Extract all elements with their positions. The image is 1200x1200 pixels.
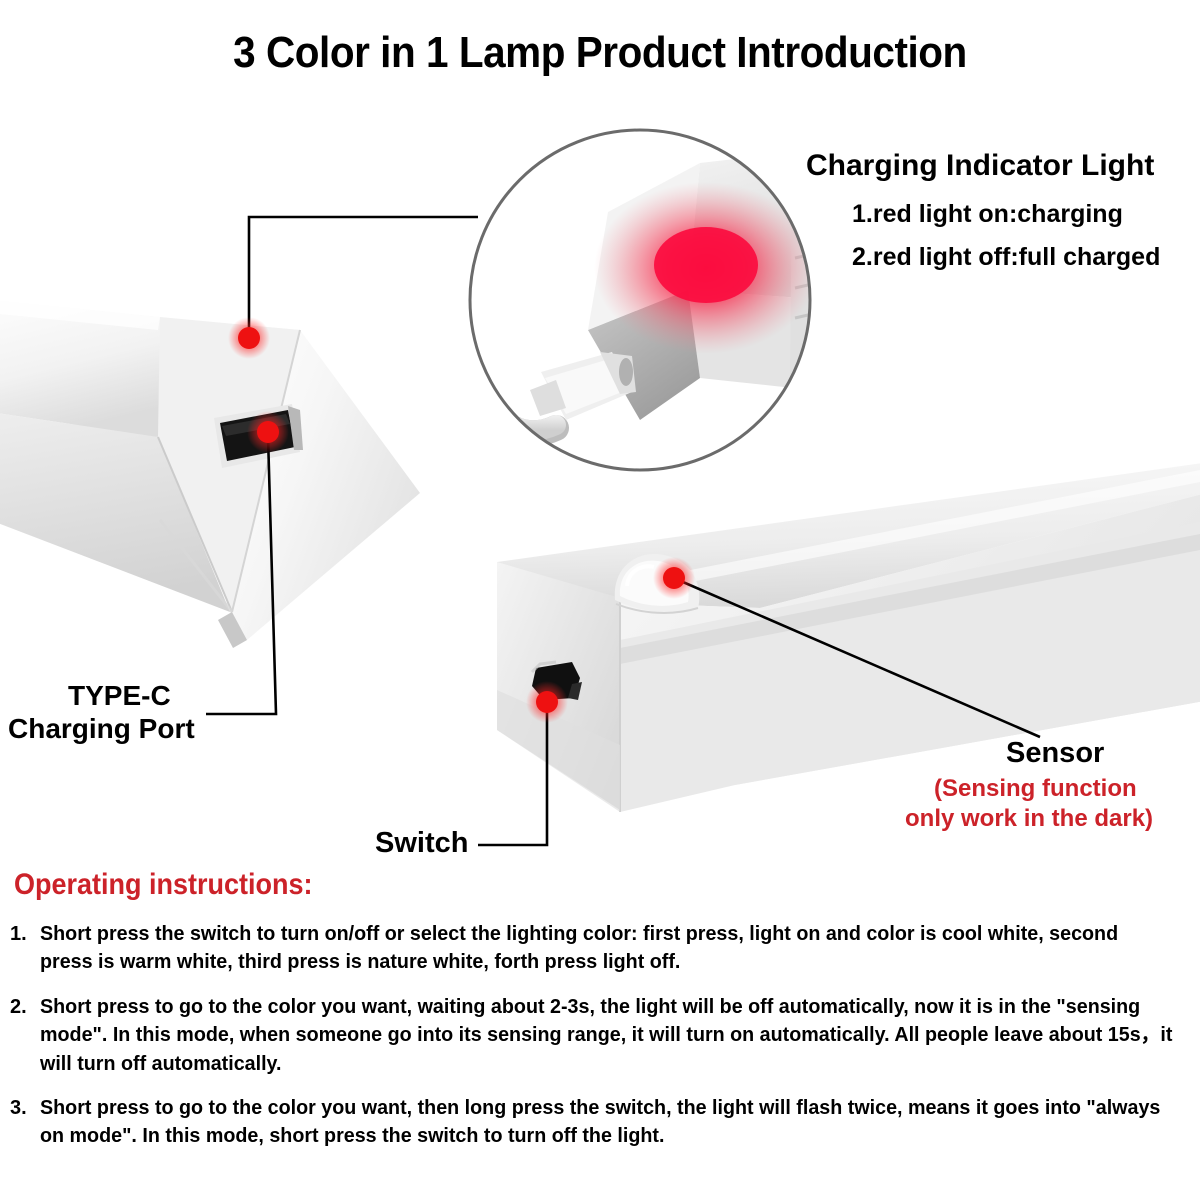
- instruction-item: 3. Short press to go to the color you wa…: [10, 1094, 1190, 1151]
- instruction-number: 2.: [10, 993, 40, 1021]
- sensor-note-line-2: only work in the dark): [905, 805, 1153, 833]
- charging-indicator-title: Charging Indicator Light: [806, 148, 1154, 183]
- callout-dot-charging-indicator: [228, 317, 270, 359]
- callout-dot-switch: [526, 681, 568, 723]
- operating-instructions-list: 1. Short press the switch to turn on/off…: [10, 920, 1190, 1167]
- sensor-label: Sensor: [1006, 736, 1104, 770]
- leader-lines: [206, 217, 1040, 845]
- leader-switch: [478, 704, 547, 845]
- instruction-item: 1. Short press the switch to turn on/off…: [10, 920, 1190, 977]
- type-c-port: [214, 404, 303, 468]
- type-c-label-line-2: Charging Port: [8, 712, 195, 745]
- pir-sensor-dome: [615, 554, 700, 613]
- sensor-note-line-1: (Sensing function: [934, 775, 1137, 803]
- instruction-text: Short press the switch to turn on/off or…: [40, 920, 1173, 977]
- switch-label: Switch: [375, 826, 468, 860]
- charging-magnifier-callout: [470, 130, 830, 470]
- operating-instructions-heading: Operating instructions:: [14, 868, 313, 902]
- page-title: 3 Color in 1 Lamp Product Introduction: [48, 28, 1152, 78]
- infographic-page: 3 Color in 1 Lamp Product Introduction: [0, 0, 1200, 1200]
- instruction-number: 3.: [10, 1094, 40, 1122]
- charging-indicator-line-2: 2.red light off:full charged: [852, 243, 1160, 273]
- instruction-number: 1.: [10, 920, 40, 948]
- instruction-text: Short press to go to the color you want,…: [40, 993, 1173, 1078]
- leader-sensor: [676, 579, 1040, 737]
- callout-dot-type-c: [247, 411, 289, 453]
- leader-type-c: [206, 436, 276, 714]
- switch-button: [532, 662, 582, 700]
- left-lamp-photo: [0, 300, 420, 648]
- instruction-item: 2. Short press to go to the color you wa…: [10, 993, 1190, 1078]
- type-c-label-line-1: TYPE-C: [68, 679, 171, 712]
- instruction-text: Short press to go to the color you want,…: [40, 1094, 1173, 1151]
- charging-indicator-line-1: 1.red light on:charging: [852, 200, 1123, 230]
- leader-charging-indicator: [249, 217, 478, 338]
- callout-dots: [228, 317, 695, 723]
- callout-dot-sensor: [653, 557, 695, 599]
